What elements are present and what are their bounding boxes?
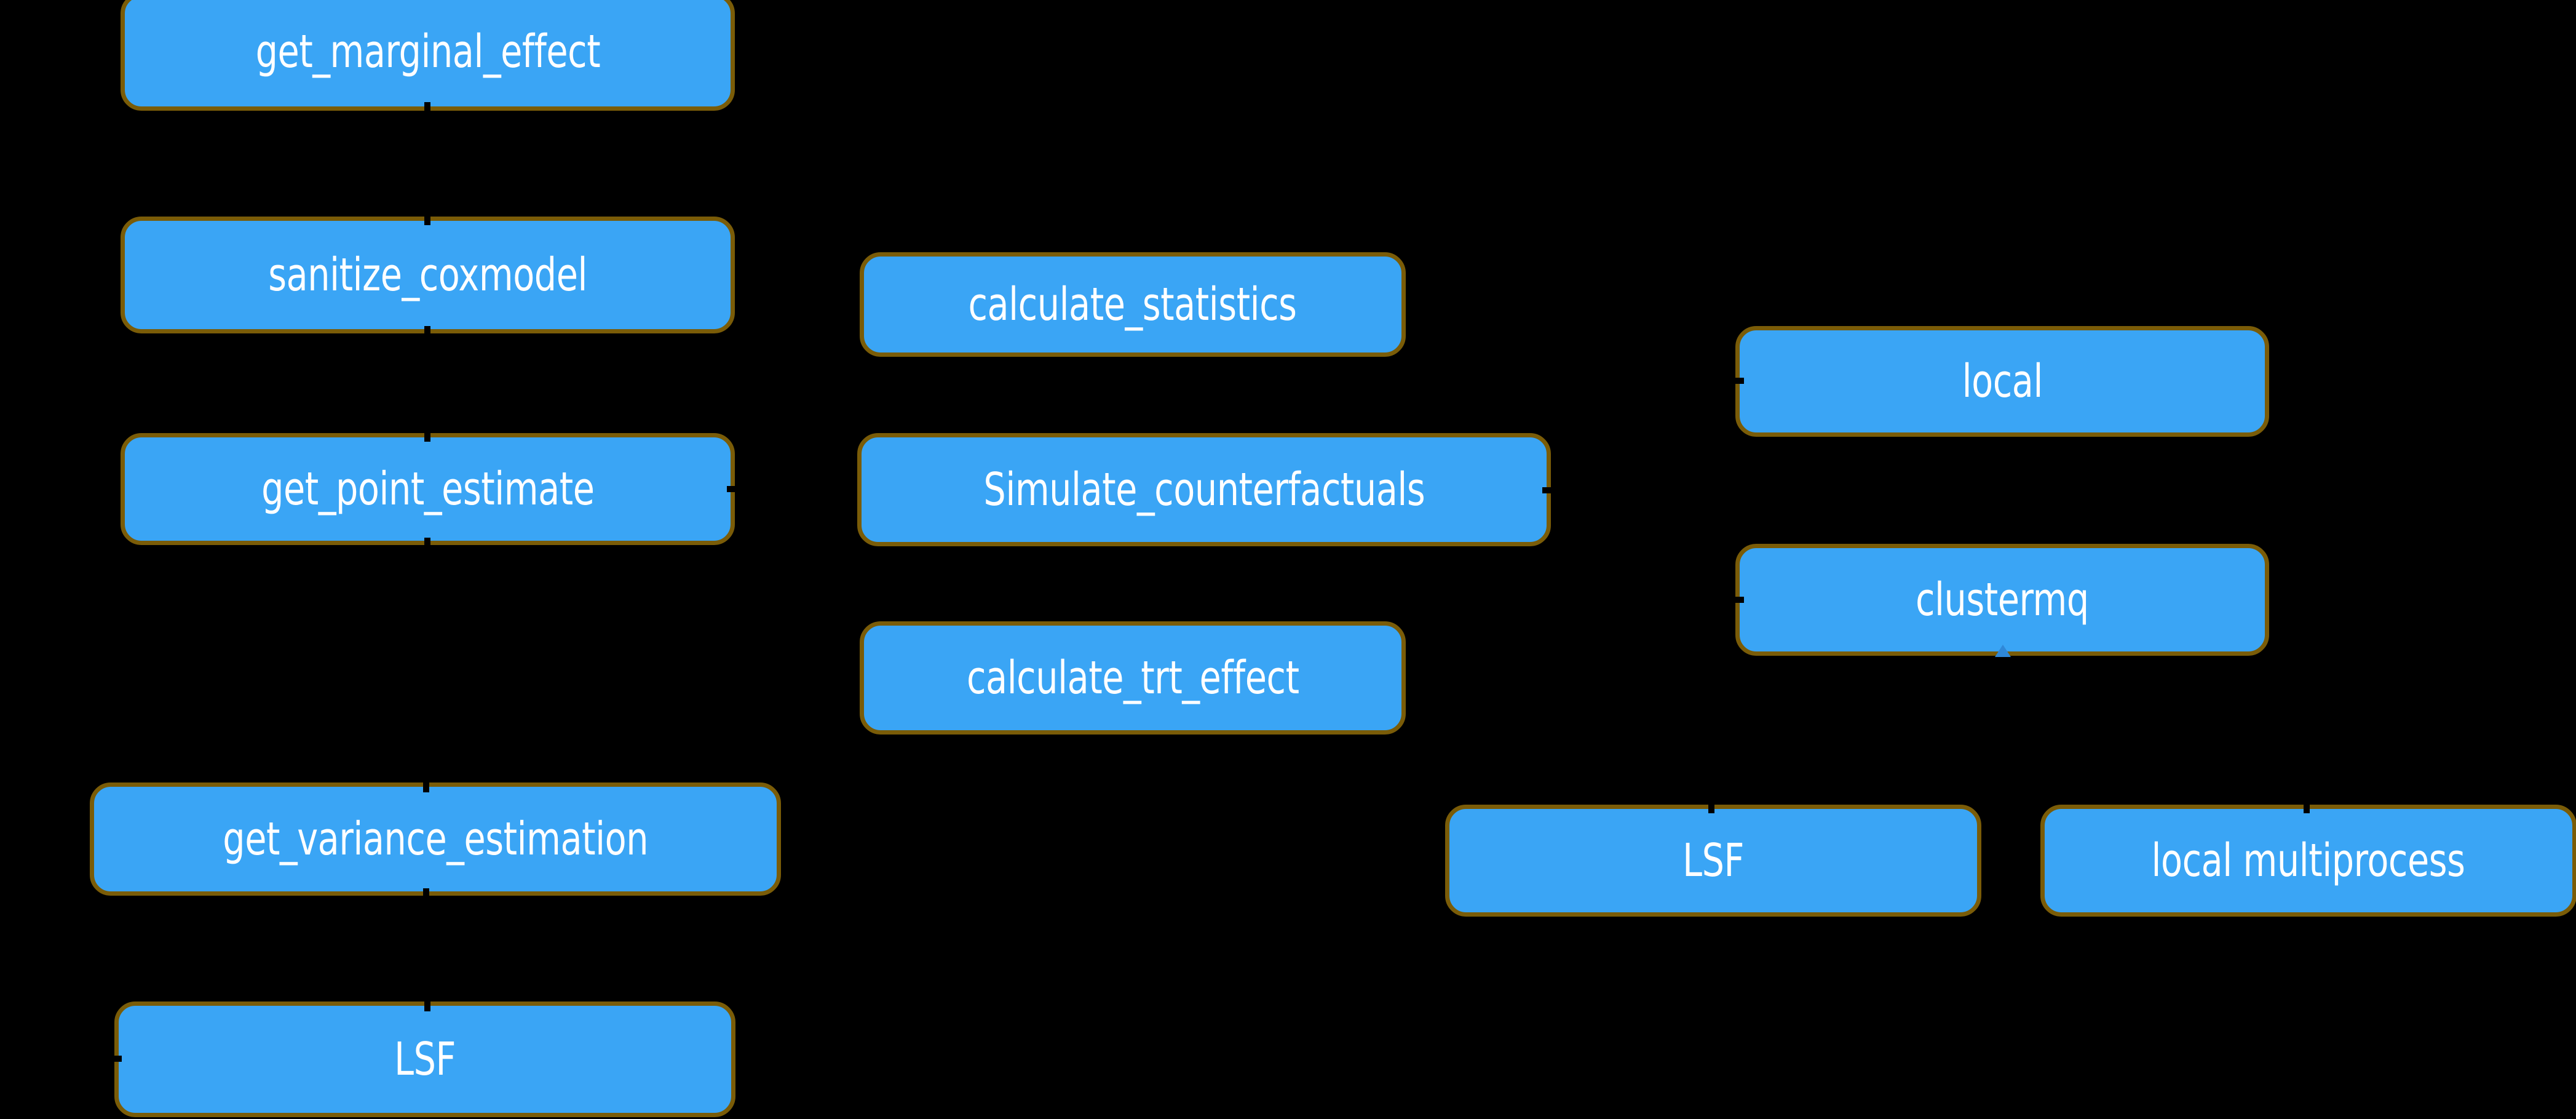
stub-lsf-left-left	[106, 1056, 122, 1062]
stub-lsf-right-top	[1708, 797, 1714, 813]
stub-get-marginal-effect-bottom	[424, 102, 430, 118]
stub-clustermq-left	[1728, 597, 1744, 603]
stub-simulate-right	[1542, 487, 1558, 493]
arrow-into-clustermq-bottom	[1995, 645, 2011, 657]
graph-canvas: get_marginal_effectsanitize_coxmodelget_…	[0, 0, 2576, 1119]
stub-lsf-left-top	[424, 995, 430, 1011]
node-label: local multiprocess	[2152, 838, 2465, 883]
node-local_multiprocess[interactable]: local multiprocess	[2040, 805, 2576, 917]
stub-get-variance-bottom	[423, 888, 429, 904]
stub-get-point-estimate-right	[727, 486, 743, 492]
stub-get-point-estimate-bottom	[424, 538, 430, 554]
node-label: LSF	[1682, 838, 1744, 883]
stub-local-multiprocess-top	[2304, 797, 2310, 813]
node-lsf_right[interactable]: LSF	[1445, 805, 1981, 917]
stub-sanitize-coxmodel-top	[424, 209, 430, 225]
stub-local-left	[1728, 378, 1744, 384]
stub-get-variance-top	[423, 776, 429, 792]
stub-sanitize-coxmodel-bottom	[424, 326, 430, 342]
scheduler-row: LSFlocal multiprocess	[0, 0, 2576, 1119]
stub-get-point-estimate-top	[424, 426, 430, 442]
